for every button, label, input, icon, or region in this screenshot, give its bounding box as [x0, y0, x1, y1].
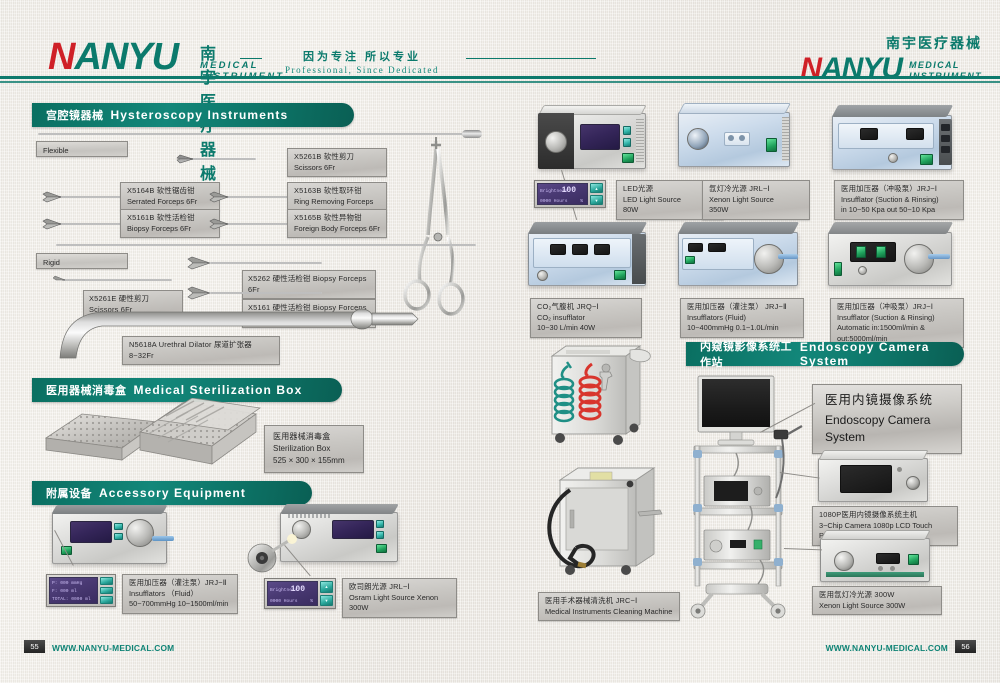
closeup-display-led: Brightness 100 0000 Hours % ▲ ▼ [534, 180, 606, 208]
lcd-panel: Brightness 100 0000 Hours % [537, 183, 588, 205]
banner-sterilization-cn: 医用器械消毒盒 [46, 382, 127, 398]
device-screen [876, 553, 900, 564]
camera-head-port[interactable] [906, 476, 920, 490]
connector-port[interactable] [888, 153, 898, 163]
closeup-display-insufflator: P: 000 mmHg F: 000 ml TOTAL: 0000 ml [46, 574, 116, 607]
label-serrated-forceps: X5164B 软性锯齿钳 Serrated Forceps 6Fr [120, 182, 220, 211]
device-screen [332, 520, 374, 539]
endoscopy-trolley [690, 372, 810, 620]
instrument-scissors-b-shaft [188, 158, 256, 160]
indicator-led [897, 467, 902, 472]
banner-camera-system: 内窥镜影像系统工作站 Endoscopy Camera System [686, 342, 964, 366]
label-camera-system-hero: 医用内镜摄像系统 Endoscopy Camera System [812, 384, 962, 454]
flexible-scope-shaft [38, 133, 478, 135]
device-top-face [818, 450, 928, 460]
banner-hysteroscopy: 宫腔镜器械 Hysteroscopy Instruments [32, 103, 354, 127]
light-output-port[interactable] [687, 128, 709, 150]
power-switch[interactable] [766, 138, 777, 152]
screen-button-2[interactable] [876, 246, 886, 258]
device-screen-1 [550, 244, 566, 255]
label-insufflator-suction-rinsing: 医用加压器（冲吸泵）JRJ−Ⅰ Insufflator (Suction & R… [834, 180, 964, 220]
banner-accessory-cn: 附属设备 [46, 485, 92, 501]
closeup-display-osram: Brightness 100 0000 Hours % ▲ ▼ [264, 578, 336, 609]
footer-url-left[interactable]: WWW.NANYU-MEDICAL.COM [52, 643, 174, 653]
keypad-row-3[interactable] [100, 596, 113, 604]
tubing-connector [928, 254, 950, 259]
banner-hysteroscopy-cn: 宫腔镜器械 [46, 107, 104, 123]
pump-rotor-knob[interactable] [754, 244, 784, 274]
device-top-face [528, 222, 647, 234]
banner-camera-system-cn: 内窥镜影像系统工作站 [700, 338, 793, 370]
device-top-face [678, 103, 791, 114]
side-port-1[interactable] [941, 124, 950, 131]
device-down-button[interactable] [623, 138, 631, 147]
ccu-touch-panel[interactable] [840, 465, 892, 493]
label-insufflator-fluid-2: 医用加压器（灌注泵） JRJ−Ⅱ Insufflators (Fluid) 10… [680, 298, 804, 338]
label-foreign-body-forceps: X5165B 软性异物钳 Foreign Body Forceps 6Fr [287, 209, 387, 238]
scissors-jaw-icon [176, 152, 194, 166]
label-urethral-dilator: N5618A Urethral Dilator 尿道扩张器 8~32Fr [122, 336, 280, 365]
label-biopsy-262: X5262 硬性活检钳 Biopsy Forceps 6Fr [242, 270, 376, 299]
rigid-scope-shaft [56, 244, 476, 246]
device-screen-1 [860, 128, 878, 140]
device-top-face [828, 222, 953, 234]
biopsy-262-jaw-icon [187, 255, 211, 271]
power-switch[interactable] [908, 554, 919, 565]
device-insufflator-suction-auto [828, 232, 952, 286]
power-led [685, 256, 695, 264]
power-led [614, 270, 626, 280]
footer-page-number-left: 55 [24, 640, 45, 653]
slogan-cn: 因为专注 所以专业 [262, 48, 462, 64]
catalog-page: NANYU 南宇医疗器械 MEDICAL INSTRUMENT 因为专注 所以专… [0, 0, 1000, 683]
device-up-button[interactable] [376, 520, 384, 528]
tag-flexible: Flexible [36, 141, 128, 157]
device-screen-2 [708, 243, 726, 252]
rigid-scissors-tip-icon [52, 274, 66, 285]
device-top-face [820, 530, 930, 540]
lcd-panel: Brightness 100 0000 Hours % [267, 581, 318, 606]
device-screen [580, 124, 620, 150]
label-osram-light-source: 欧司朗光源 JRL−Ⅰ Osram Light Source Xenon 300… [342, 578, 457, 618]
tubing-connector [152, 536, 174, 541]
connector-port[interactable] [858, 266, 867, 275]
page-header: NANYU 南宇医疗器械 MEDICAL INSTRUMENT 因为专注 所以专… [0, 0, 1000, 82]
label-biopsy-forceps-b: X5161B 软性活检钳 Biopsy Forceps 6Fr [120, 209, 220, 238]
keypad-down[interactable]: ▼ [590, 195, 603, 205]
serrated-forceps-jaw-icon [42, 189, 62, 205]
device-accent-stripe [826, 572, 924, 577]
label-sterilization-box: 医用器械消毒盒 Sterilization Box 525 × 300 × 15… [264, 425, 364, 473]
device-insufflator-fluid-2 [678, 232, 798, 286]
device-insufflator-suction-rinsing [832, 115, 952, 170]
device-led-light-source [538, 113, 646, 169]
control-dot-1[interactable] [728, 135, 734, 141]
slogan-rule-left [240, 58, 262, 59]
screen-button-1[interactable] [856, 246, 866, 258]
device-branding-strip [288, 514, 330, 518]
banner-accessory: 附属设备 Accessory Equipment [32, 481, 312, 505]
banner-sterilization-en: Medical Sterilization Box [134, 383, 303, 397]
pump-rotor-knob[interactable] [126, 519, 154, 547]
device-vent [636, 119, 644, 163]
device-top-face [832, 105, 953, 117]
lcd-panel: P: 000 mmHg F: 000 ml TOTAL: 0000 ml [49, 577, 98, 604]
keypad-up[interactable]: ▲ [590, 183, 603, 193]
power-led [376, 544, 387, 553]
device-top-face [678, 222, 799, 234]
gas-port[interactable] [537, 270, 548, 281]
tag-rigid: Rigid [36, 253, 128, 269]
biopsy-161-jaw-icon [187, 285, 211, 301]
control-dot-2[interactable] [890, 566, 895, 571]
device-screen [70, 521, 112, 543]
tubing-connector [778, 254, 798, 259]
device-xenon-light-source [678, 112, 790, 167]
light-guide-cable-icon [246, 534, 298, 574]
power-led [622, 153, 634, 163]
power-led [920, 154, 933, 165]
keypad-row-2[interactable] [100, 587, 113, 595]
device-button-2[interactable] [114, 533, 123, 540]
label-scissors-b: X5261B 软性剪刀 Scissors 6Fr [287, 148, 387, 177]
footer-url-right[interactable]: WWW.NANYU-MEDICAL.COM [826, 643, 948, 653]
power-switch[interactable] [834, 262, 842, 276]
label-xenon-light-source: 氙灯冷光源 JRL−Ⅰ Xenon Light Source 350W [702, 180, 810, 220]
device-down-button[interactable] [376, 531, 384, 539]
instrument-biopsy-262-shaft [210, 262, 322, 264]
instrument-scissors-e-shaft [62, 279, 172, 281]
cleaning-machine-lower [534, 462, 684, 592]
device-side-rack [632, 234, 646, 284]
device-screen-2 [906, 128, 924, 140]
label-cleaning-machine: 医用手术器械清洗机 JRC−Ⅰ Medical Instruments Clea… [538, 592, 680, 621]
slogan-rule-right [466, 58, 596, 59]
footer-page-number-right: 56 [955, 640, 976, 653]
control-dot-1[interactable] [878, 566, 883, 571]
device-top-face [51, 505, 167, 514]
lcd-keypad[interactable] [100, 577, 113, 604]
hysteroscopy-forceps-illustration [390, 137, 482, 327]
logo-right-wordmark: NANYU [800, 54, 902, 84]
foreign-body-forceps-jaw-icon [209, 216, 229, 232]
slogan: 因为专注 所以专业 Professional, Since Dedicated [262, 48, 462, 75]
lcd-keypad[interactable]: ▲ ▼ [590, 183, 603, 205]
header-rule-thick [0, 76, 1000, 79]
banner-hysteroscopy-en: Hysteroscopy Instruments [111, 108, 289, 122]
device-up-button[interactable] [623, 126, 631, 135]
label-co2-insufflator: CO₂气腹机 JRQ−Ⅰ CO₂ insufflator 10~30 L/min… [530, 298, 642, 338]
device-co2-insufflator [528, 232, 646, 286]
device-top-face [280, 504, 399, 514]
device-screen-2 [572, 244, 588, 255]
device-xenon-300w [820, 538, 930, 582]
control-dot-2[interactable] [739, 135, 745, 141]
label-insufflator-fluid: 医用加压器（灌注泵）JRJ−Ⅱ Insufflators （Fluid） 50~… [122, 574, 238, 614]
device-screen-3 [594, 244, 610, 255]
side-port-3[interactable] [941, 146, 950, 153]
sterilization-box-open [132, 398, 262, 478]
instrument-biopsy-161-shaft [210, 292, 322, 294]
device-ccu-camera [818, 458, 928, 502]
keypad-up[interactable]: ▲ [320, 581, 333, 593]
logo-left-wordmark: NANYU [48, 38, 178, 76]
banner-camera-system-en: Endoscopy Camera System [800, 340, 948, 368]
ring-removing-forceps-jaw-icon [209, 189, 229, 205]
pump-rotor-knob[interactable] [904, 244, 934, 274]
logo-right-cn: 南宇医疗器械 [800, 33, 982, 53]
light-output-port[interactable] [834, 551, 854, 571]
device-vent [782, 117, 789, 161]
keypad-row-1[interactable] [100, 577, 113, 585]
lcd-keypad[interactable]: ▲ ▼ [320, 581, 333, 606]
logo-left: NANYU 南宇医疗器械 MEDICAL INSTRUMENT [48, 38, 178, 76]
label-xenon-300w: 医用氙灯冷光源 300W Xenon Light Source 300W [812, 586, 942, 615]
side-port-2[interactable] [941, 135, 950, 142]
header-rule-thin [0, 81, 1000, 83]
slogan-en: Professional, Since Dedicated [262, 65, 462, 75]
biopsy-forceps-jaw-icon [42, 216, 62, 232]
device-screen-1 [688, 243, 703, 252]
brightness-knob[interactable] [545, 131, 567, 153]
keypad-down[interactable]: ▼ [320, 595, 333, 607]
cleaning-cart-upper [534, 342, 664, 462]
device-button-1[interactable] [114, 523, 123, 530]
banner-accessory-en: Accessory Equipment [99, 486, 246, 500]
